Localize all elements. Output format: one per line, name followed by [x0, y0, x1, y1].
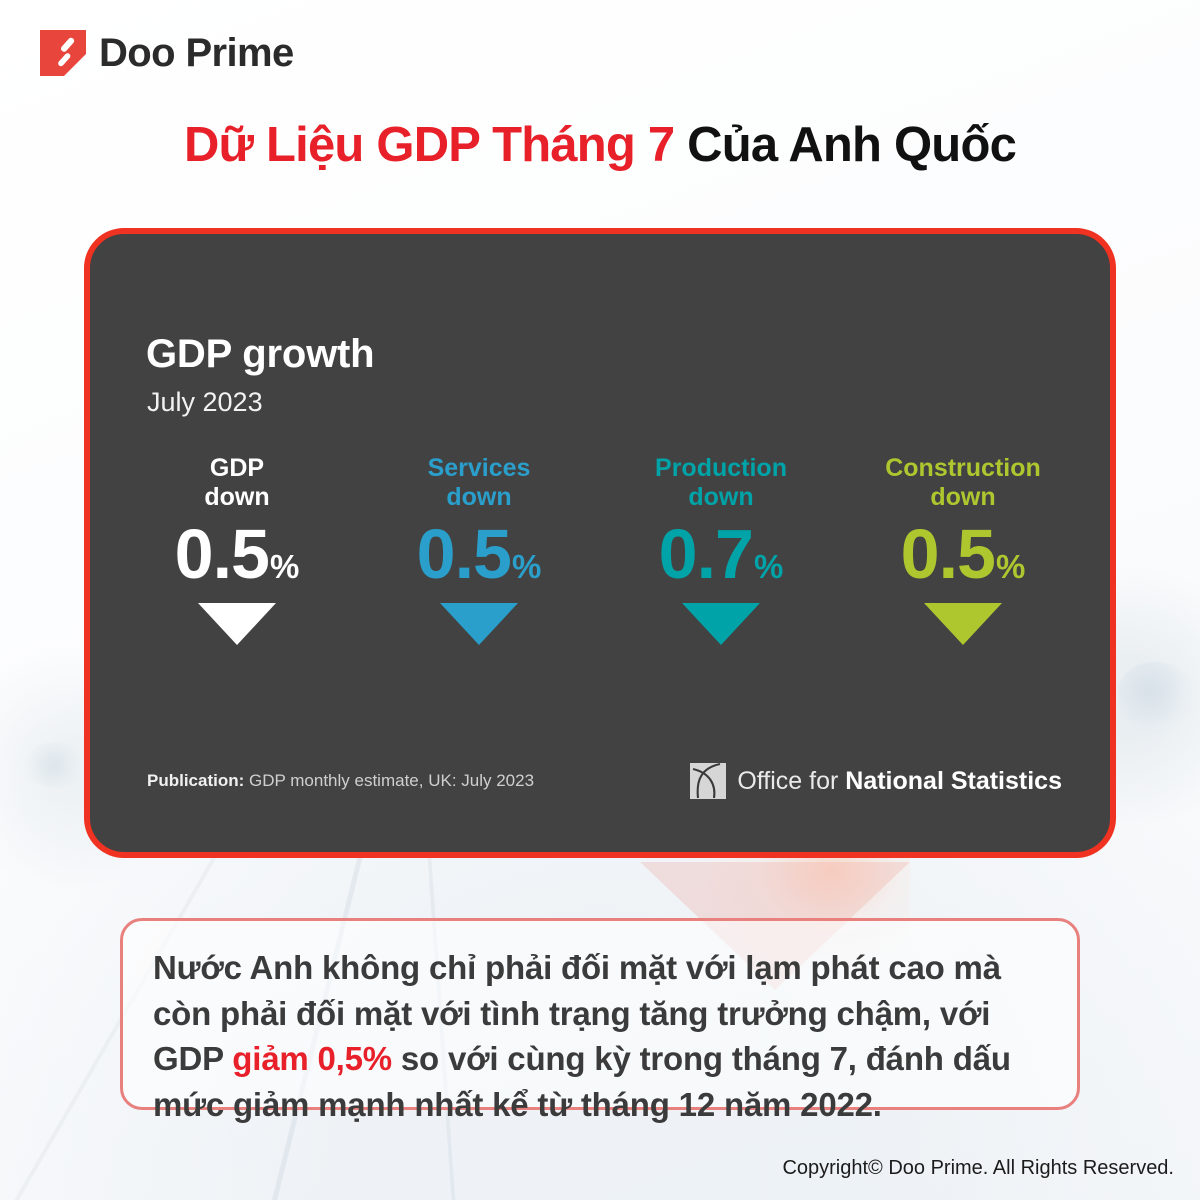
summary-highlight: giảm 0,5%	[232, 1040, 392, 1077]
background-blob-left	[24, 742, 90, 788]
metric-percent: %	[996, 550, 1025, 583]
metric-label: Construction down	[842, 454, 1084, 513]
summary-line-4: mức giảm mạnh nhất kể từ tháng 12 năm 20…	[153, 1086, 882, 1123]
ons-prefix: Office for	[737, 767, 845, 795]
ons-logo-text: Office for National Statistics	[737, 769, 1062, 794]
ons-mark-icon	[690, 763, 726, 799]
triangle-down-icon	[924, 603, 1002, 645]
metric-number: 0.5	[901, 519, 995, 589]
metric-gdp: GDP down 0.5%	[116, 454, 358, 645]
publication-value: GDP monthly estimate, UK: July 2023	[244, 771, 534, 790]
metric-value: 0.5%	[842, 519, 1084, 589]
page-title-dark: Của Anh Quốc	[687, 118, 1016, 172]
triangle-down-icon	[682, 603, 760, 645]
metric-label: Services down	[358, 454, 600, 513]
metrics-row: GDP down 0.5% Services down 0.5% Product…	[116, 454, 1084, 645]
page-title-red: Dữ Liệu GDP Tháng 7	[184, 118, 674, 172]
ons-logo: Office for National Statistics	[690, 763, 1062, 799]
triangle-down-icon	[198, 603, 276, 645]
metric-percent: %	[754, 550, 783, 583]
metric-value: 0.5%	[116, 519, 358, 589]
publication-note: Publication: GDP monthly estimate, UK: J…	[147, 772, 534, 789]
metric-value: 0.7%	[600, 519, 842, 589]
summary-line-1: Nước Anh không chỉ phải đối mặt với lạm …	[153, 949, 1001, 986]
triangle-down-icon	[440, 603, 518, 645]
page-title: Dữ Liệu GDP Tháng 7 Của Anh Quốc	[0, 118, 1200, 173]
metric-label: Production down	[600, 454, 842, 513]
gdp-growth-card: GDP growth July 2023 GDP down 0.5% Servi…	[84, 228, 1116, 858]
publication-label: Publication:	[147, 771, 244, 790]
summary-line-3-post: so với cùng kỳ trong tháng 7, đánh dấu	[392, 1040, 1011, 1077]
card-subtitle: July 2023	[147, 389, 263, 416]
background-blob-right	[1118, 662, 1196, 734]
metric-percent: %	[270, 550, 299, 583]
metric-percent: %	[512, 550, 541, 583]
ons-bold: National Statistics	[845, 767, 1062, 795]
metric-construction: Construction down 0.5%	[842, 454, 1084, 645]
metric-value: 0.5%	[358, 519, 600, 589]
summary-line-3-pre: GDP	[153, 1040, 232, 1077]
metric-production: Production down 0.7%	[600, 454, 842, 645]
doo-prime-logo-icon	[40, 30, 86, 76]
metric-number: 0.5	[417, 519, 511, 589]
summary-line-2: còn phải đối mặt với tình trạng tăng trư…	[153, 995, 990, 1032]
metric-label: GDP down	[116, 454, 358, 513]
brand-logo: Doo Prime	[40, 30, 294, 76]
brand-name: Doo Prime	[99, 33, 294, 73]
summary-text: Nước Anh không chỉ phải đối mặt với lạm …	[153, 945, 1047, 1127]
summary-box: Nước Anh không chỉ phải đối mặt với lạm …	[120, 918, 1080, 1110]
infographic-page: Doo Prime Dữ Liệu GDP Tháng 7 Của Anh Qu…	[0, 0, 1200, 1200]
metric-number: 0.5	[175, 519, 269, 589]
metric-number: 0.7	[659, 519, 753, 589]
copyright-text: Copyright© Doo Prime. All Rights Reserve…	[782, 1158, 1174, 1178]
metric-services: Services down 0.5%	[358, 454, 600, 645]
card-title: GDP growth	[146, 334, 374, 374]
